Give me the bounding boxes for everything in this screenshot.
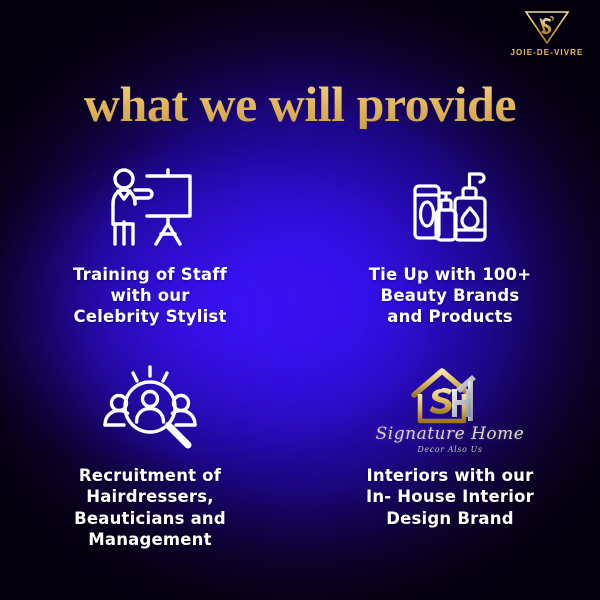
signature-home-house-monogram-icon: Signature Home Decor Also Us (375, 361, 525, 453)
feature-item-interiors[interactable]: Signature Home Decor Also Us Interiors w… (300, 361, 600, 549)
feature-item-training[interactable]: Training of Staff with our Celebrity Sty… (0, 160, 300, 327)
brand-logo[interactable]: JOIE-DE-VIVRE (504, 8, 590, 57)
feature-label: Recruitment of Hairdressers, Beauticians… (74, 465, 226, 549)
feature-item-recruitment[interactable]: Recruitment of Hairdressers, Beauticians… (0, 361, 300, 549)
feature-label: Tie Up with 100+ Beauty Brands and Produ… (369, 264, 532, 327)
people-magnifier-search-icon (100, 365, 200, 449)
feature-icon-wrap (102, 160, 198, 252)
poster-canvas: JOIE-DE-VIVRE what we will provide (0, 0, 600, 600)
sub-brand-script: Signature Home (375, 426, 525, 443)
page-title: what we will provide (0, 79, 600, 129)
feature-item-brands[interactable]: Tie Up with 100+ Beauty Brands and Produ… (300, 160, 600, 327)
cosmetic-bottles-icon (402, 164, 498, 248)
sub-brand-tagline: Decor Also Us (375, 446, 525, 454)
feature-grid: Training of Staff with our Celebrity Sty… (0, 160, 600, 550)
feature-icon-wrap (402, 160, 498, 252)
feature-label: Interiors with our In- House Interior De… (366, 465, 534, 528)
feature-icon-wrap: Signature Home Decor Also Us (375, 361, 525, 453)
feature-icon-wrap (100, 361, 200, 453)
inverted-triangle-monogram-icon (523, 8, 571, 46)
feature-label: Training of Staff with our Celebrity Sty… (73, 264, 227, 327)
trainer-presenting-whiteboard-icon (102, 164, 198, 248)
brand-wordmark: JOIE-DE-VIVRE (504, 48, 590, 57)
